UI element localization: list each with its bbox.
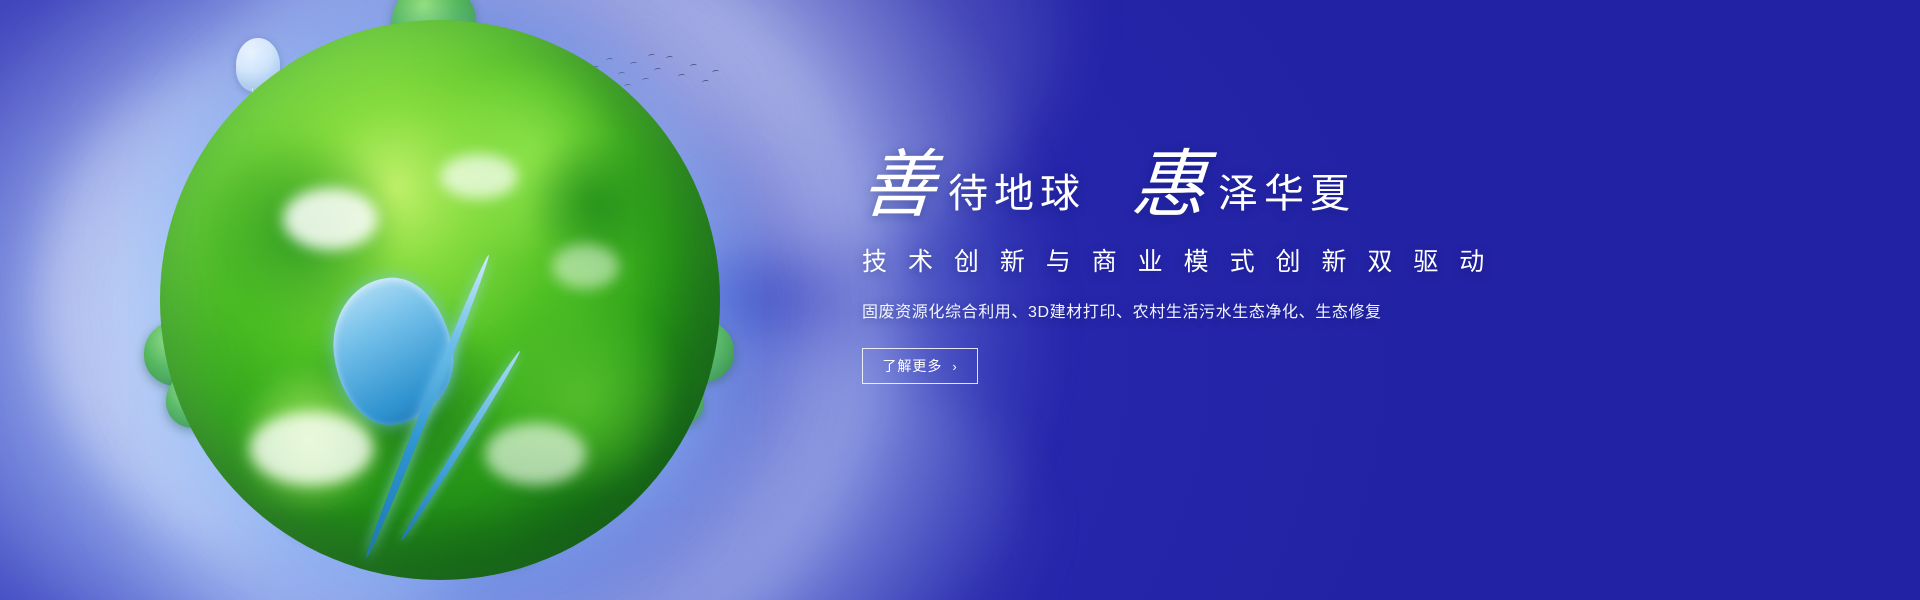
hero-banner: 善 待地球 惠 泽华夏 技 术 创 新 与 商 业 模 式 创 新 双 驱 动 … <box>0 0 1920 600</box>
headline-char-shan: 善 <box>860 152 939 220</box>
headline-char-hui: 惠 <box>1130 152 1209 220</box>
hero-copy-block: 善 待地球 惠 泽华夏 技 术 创 新 与 商 业 模 式 创 新 双 驱 动 … <box>862 128 1562 384</box>
planet-sphere <box>160 20 720 580</box>
headline-text-zehuaxia: 泽华夏 <box>1206 174 1356 220</box>
chevron-right-icon: › <box>952 360 957 373</box>
cloud-puff <box>283 188 378 250</box>
learn-more-label: 了解更多 <box>882 356 942 376</box>
learn-more-button[interactable]: 了解更多 › <box>862 348 978 384</box>
headline-text-daidiqiu: 待地球 <box>936 174 1086 220</box>
hero-description: 固废资源化综合利用、3D建材打印、农村生活污水生态净化、生态修复 <box>862 298 1562 322</box>
cloud-puff <box>250 412 373 485</box>
cloud-puff <box>485 423 586 485</box>
hero-subtitle: 技 术 创 新 与 商 业 模 式 创 新 双 驱 动 <box>862 242 1562 278</box>
hero-headline: 善 待地球 惠 泽华夏 <box>862 128 1562 220</box>
cloud-puff <box>552 244 619 289</box>
tiny-planet-graphic <box>160 20 720 580</box>
